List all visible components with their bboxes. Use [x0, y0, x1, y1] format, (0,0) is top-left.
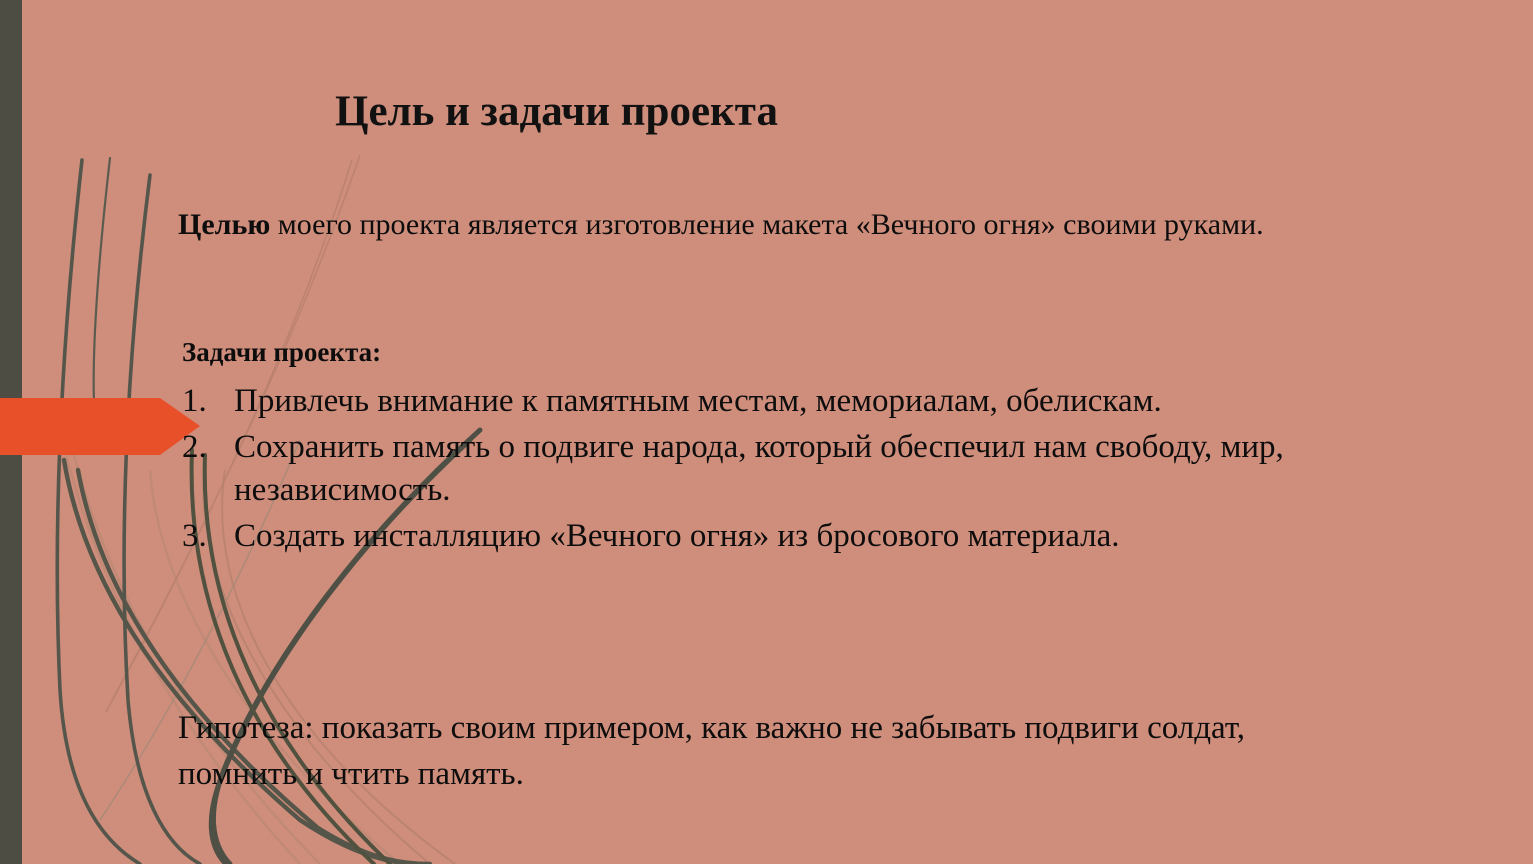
hypothesis-paragraph: Гипотеза: показать своим примером, как в… [178, 706, 1343, 797]
page-title: Цель и задачи проекта [335, 88, 1235, 135]
tasks-heading: Задачи проекта: [182, 336, 381, 368]
slide-content: Цель и задачи проекта Целью моего проект… [0, 0, 1533, 864]
list-item-text: Сохранить память о подвиге народа, котор… [234, 429, 1284, 509]
goal-paragraph-block: Целью моего проекта является изготовлени… [178, 204, 1338, 247]
goal-paragraph: Целью моего проекта является изготовлени… [178, 204, 1306, 247]
goal-lead-word: Целью [178, 208, 270, 241]
list-item: 3. Создать инсталляцию «Вечного огня» из… [182, 515, 1342, 559]
list-item-text: Создать инсталляцию «Вечного огня» из бр… [234, 518, 1120, 554]
list-item: 2. Сохранить память о подвиге народа, ко… [182, 426, 1342, 513]
tasks-list: 1. Привлечь внимание к памятным местам, … [182, 380, 1342, 560]
goal-rest-text: моего проекта является изготовление маке… [270, 208, 1263, 241]
list-item-text: Привлечь внимание к памятным местам, мем… [234, 383, 1162, 419]
list-item: 1. Привлечь внимание к памятным местам, … [182, 380, 1342, 424]
presentation-slide: Цель и задачи проекта Целью моего проект… [0, 0, 1533, 864]
list-item-number: 1. [182, 380, 226, 424]
list-item-number: 2. [182, 426, 226, 470]
list-item-number: 3. [182, 515, 226, 559]
